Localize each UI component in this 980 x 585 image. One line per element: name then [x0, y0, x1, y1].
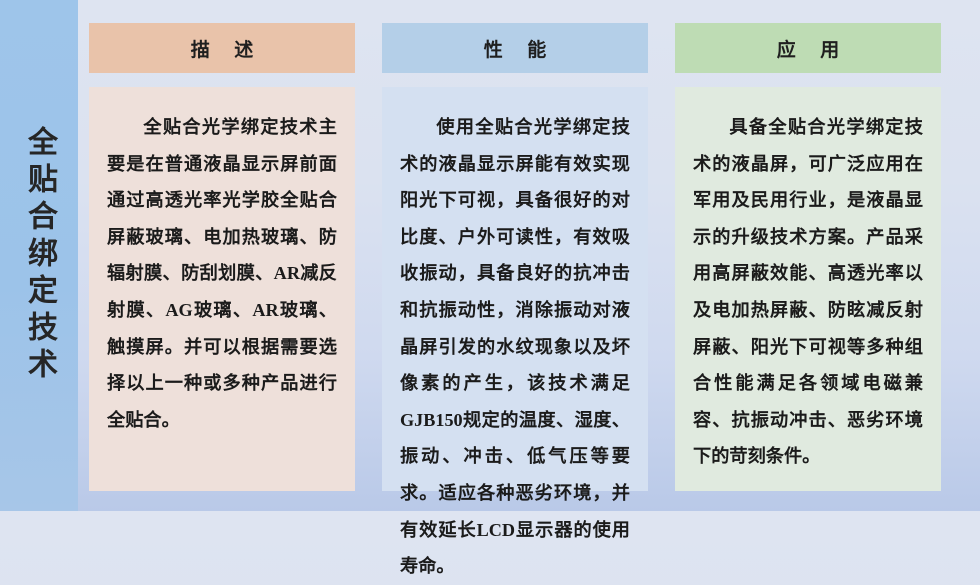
sidebar-vertical-title: 全贴合绑定技术 [24, 126, 54, 385]
column-performance: 性 能 使用全贴合光学绑定技术的液晶显示屏能有效实现阳光下可视，具备很好的对比度… [382, 0, 648, 511]
column-body-text: 使用全贴合光学绑定技术的液晶显示屏能有效实现阳光下可视，具备很好的对比度、户外可… [400, 109, 630, 585]
column-header-description: 描 述 [89, 23, 355, 73]
column-application: 应 用 具备全贴合光学绑定技术的液晶屏，可广泛应用在军用及民用行业，是液晶显示的… [675, 0, 941, 511]
column-header-application: 应 用 [675, 23, 941, 73]
column-body-text: 具备全贴合光学绑定技术的液晶屏，可广泛应用在军用及民用行业，是液晶显示的升级技术… [693, 109, 923, 475]
column-body-description: 全贴合光学绑定技术主要是在普通液晶显示屏前面通过高透光率光学胶全贴合屏蔽玻璃、电… [89, 87, 355, 491]
column-header-label: 应 用 [768, 35, 849, 62]
column-body-performance: 使用全贴合光学绑定技术的液晶显示屏能有效实现阳光下可视，具备很好的对比度、户外可… [382, 87, 648, 491]
slide-canvas: 全贴合绑定技术 描 述 全贴合光学绑定技术主要是在普通液晶显示屏前面通过高透光率… [0, 0, 980, 511]
column-header-label: 性 能 [475, 35, 556, 62]
column-body-application: 具备全贴合光学绑定技术的液晶屏，可广泛应用在军用及民用行业，是液晶显示的升级技术… [675, 87, 941, 491]
column-description: 描 述 全贴合光学绑定技术主要是在普通液晶显示屏前面通过高透光率光学胶全贴合屏蔽… [89, 0, 355, 511]
sidebar-title-bar: 全贴合绑定技术 [0, 0, 78, 511]
column-header-performance: 性 能 [382, 23, 648, 73]
column-body-text: 全贴合光学绑定技术主要是在普通液晶显示屏前面通过高透光率光学胶全贴合屏蔽玻璃、电… [107, 109, 337, 438]
sidebar-title-wrapper: 全贴合绑定技术 [0, 0, 78, 511]
column-header-label: 描 述 [182, 35, 263, 62]
